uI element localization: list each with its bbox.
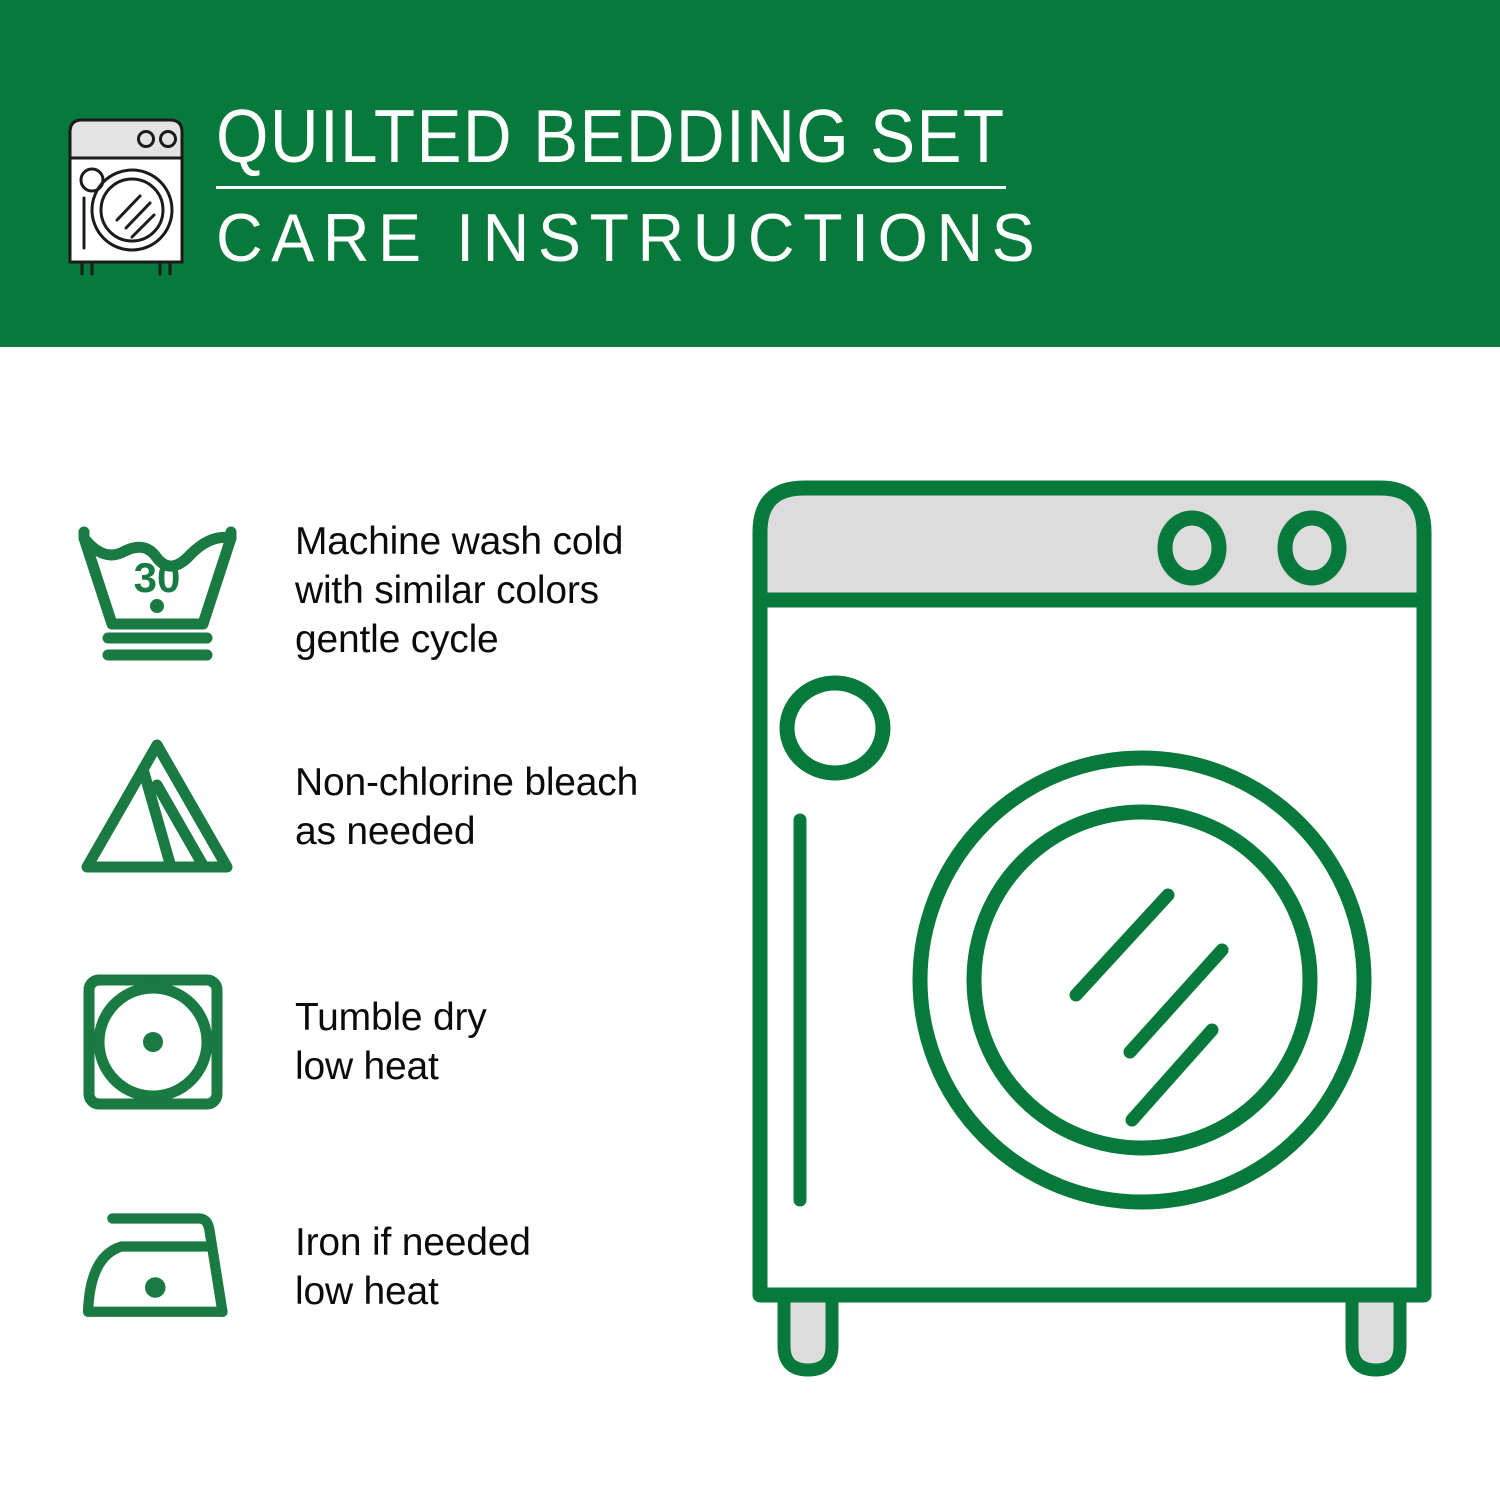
care-instruction-label: Iron if needed low heat (295, 1218, 531, 1316)
care-instruction-item: Non-chlorine bleach as needed (75, 732, 715, 882)
header-banner: QUILTED BEDDING SET CARE INSTRUCTIONS (0, 0, 1500, 347)
wash-temperature-value: 30 (134, 554, 181, 601)
header-content: QUILTED BEDDING SET CARE INSTRUCTIONS (62, 96, 1093, 277)
care-instruction-list: 30 Machine wash cold with similar colors… (0, 347, 740, 1500)
control-panel (760, 488, 1424, 600)
tumble-dry-low-icon (75, 967, 243, 1117)
care-instruction-item: 30 Machine wash cold with similar colors… (75, 515, 715, 665)
care-instruction-label: Tumble dry low heat (295, 993, 487, 1091)
care-instruction-item: Iron if needed low heat (75, 1192, 715, 1342)
page-title: QUILTED BEDDING SET (216, 96, 1006, 176)
washing-machine-illustration (740, 470, 1460, 1420)
bleach-triangle-icon (75, 732, 243, 882)
title-divider (216, 186, 1006, 189)
iron-low-heat-icon (75, 1192, 243, 1342)
care-instructions-page: QUILTED BEDDING SET CARE INSTRUCTIONS (0, 0, 1500, 1500)
page-subtitle: CARE INSTRUCTIONS (216, 201, 1049, 275)
care-instruction-label: Non-chlorine bleach as needed (295, 758, 638, 856)
wash-tub-30-icon: 30 (75, 515, 243, 665)
care-instruction-label: Machine wash cold with similar colors ge… (295, 517, 623, 664)
care-instruction-item: Tumble dry low heat (75, 967, 715, 1117)
washing-machine-icon (62, 102, 194, 277)
header-title-group: QUILTED BEDDING SET CARE INSTRUCTIONS (216, 96, 1093, 275)
